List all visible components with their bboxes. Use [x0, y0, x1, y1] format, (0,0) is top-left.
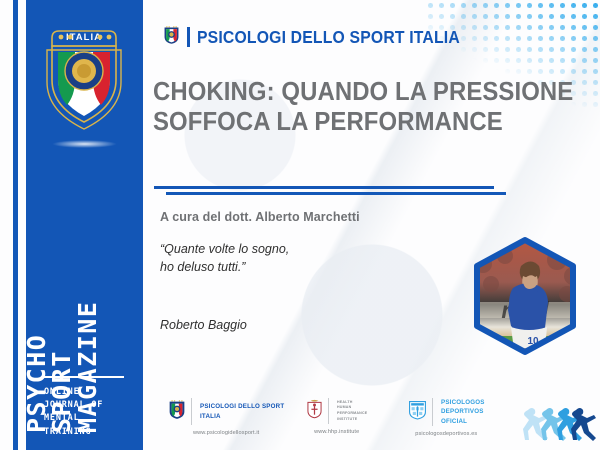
pull-quote-line-1: “Quante volte lo sogno, — [160, 240, 390, 258]
page-title-line-2: SOFFOCA LA PERFORMANCE — [153, 106, 539, 136]
logo-psicologi-dello-sport-italia[interactable]: PSICOLOGI DELLO SPORT ITALIA www.psicolo… — [168, 398, 284, 436]
sidebar-subtitle-line-1: ONLINE — [44, 386, 140, 399]
page-title-line-1: CHOKING: QUANDO LA PRESSIONE — [153, 76, 539, 106]
logo-name-line-3: OFICIAL — [441, 417, 485, 426]
sidebar-divider — [44, 376, 124, 378]
sidebar-subtitle: ONLINE JOURNAL OF MENTAL TRAINING — [44, 386, 140, 439]
logo-url[interactable]: psicologosdeportivos.es — [415, 431, 477, 437]
page-title: CHOKING: QUANDO LA PRESSIONE SOFFOCA LA … — [153, 76, 539, 136]
logo-name-text: PSICOLOGOS DEPORTIVOS OFICIAL — [441, 398, 485, 426]
logo-url[interactable]: www.hhp.institute — [314, 429, 359, 435]
title-rule-lower — [166, 192, 506, 195]
logo-url[interactable]: www.psicologidellosport.it — [193, 430, 259, 436]
psicologos-crest-icon — [408, 399, 427, 425]
footer-partner-logos: PSICOLOGI DELLO SPORT ITALIA www.psicolo… — [150, 396, 600, 448]
header-brand-text: PSICOLOGI DELLO SPORT ITALIA — [197, 27, 460, 48]
quote-attribution: Roberto Baggio — [160, 318, 247, 332]
header-brand-bar: PSICOLOGI DELLO SPORT ITALIA — [163, 24, 489, 50]
logo-name-text: PSICOLOGI DELLO SPORT ITALIA — [200, 402, 284, 421]
sidebar-subtitle-line-3: MENTAL — [44, 412, 140, 425]
athlete-photo-hexagon: negl 10 — [461, 232, 589, 364]
logo-name-text: HEALTH HUMAN PERFORMANCE INSTITUTE — [337, 400, 367, 423]
header-divider-pipe — [187, 27, 190, 47]
logo-divider — [328, 398, 329, 424]
logo-name-line-3: PERFORMANCE — [337, 411, 367, 417]
header-shield-icon — [163, 24, 180, 50]
logo-name-line-1: PSICOLOGI DELLO SPORT — [200, 402, 284, 411]
logo-name-line-2: ITALIA — [200, 412, 284, 421]
title-rule-upper — [154, 186, 494, 189]
sidebar-subtitle-line-4: TRAINING — [44, 426, 140, 439]
logo-name-line-2: DEPORTIVOS — [441, 407, 485, 416]
logo-name-line-4: INSTITUTE — [337, 417, 367, 423]
psicologi-shield-icon — [168, 398, 186, 425]
emblem-glow-decoration — [52, 140, 117, 148]
logo-divider — [432, 398, 433, 426]
logo-divider — [191, 398, 192, 425]
slide-canvas: ITALIA PSYCHO SPORT MAGAZINE ONLINE JOUR… — [0, 0, 600, 450]
logo-psicologos-deportivos-oficial[interactable]: PSICOLOGOS DEPORTIVOS OFICIAL psicologos… — [408, 398, 485, 437]
sidebar-subtitle-line-2: JOURNAL OF — [44, 399, 140, 412]
logo-name-line-1: PSICOLOGOS — [441, 398, 485, 407]
pull-quote-line-2: ho deluso tutti.” — [160, 258, 390, 276]
runners-logo-icon — [518, 400, 600, 444]
hhp-crest-icon — [306, 398, 323, 424]
logo-hhp-institute[interactable]: HEALTH HUMAN PERFORMANCE INSTITUTE www.h… — [306, 398, 367, 435]
author-byline: A cura del dott. Alberto Marchetti — [160, 210, 360, 224]
italia-shield-emblem-icon: ITALIA — [34, 16, 134, 134]
pull-quote: “Quante volte lo sogno, ho deluso tutti.… — [160, 240, 390, 276]
